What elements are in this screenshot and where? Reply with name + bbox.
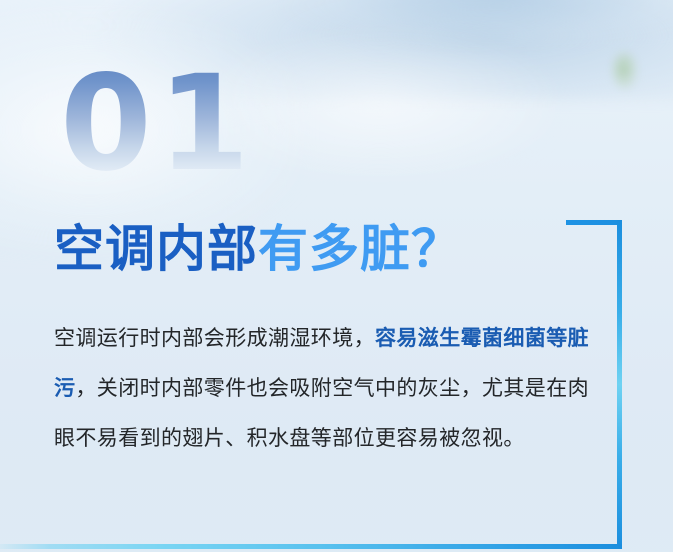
corner-bracket-top-arm <box>566 220 622 225</box>
corner-bracket-vertical <box>617 220 622 549</box>
page-title-segment-light: 有多脏？ <box>258 221 462 277</box>
section-number: 01 <box>60 58 256 190</box>
corner-bracket-bottom-arm <box>0 544 622 549</box>
green-accent-blob <box>612 52 638 90</box>
body-run-normal-1: 空调运行时内部会形成潮湿环境， <box>54 327 375 350</box>
poster-canvas: 01 空调内部有多脏？ 空调运行时内部会形成潮湿环境，容易滋生霉菌细菌等脏污，关… <box>0 0 673 552</box>
body-run-normal-2: ，关闭时内部零件也会吸附空气中的灰尘，尤其是在肉眼不易看到的翅片、积水盘等部位更… <box>54 377 589 450</box>
page-title-segment-dark: 空调内部 <box>54 221 258 277</box>
body-paragraph: 空调运行时内部会形成潮湿环境，容易滋生霉菌细菌等脏污，关闭时内部零件也会吸附空气… <box>54 314 594 464</box>
page-title: 空调内部有多脏？ <box>54 220 462 279</box>
